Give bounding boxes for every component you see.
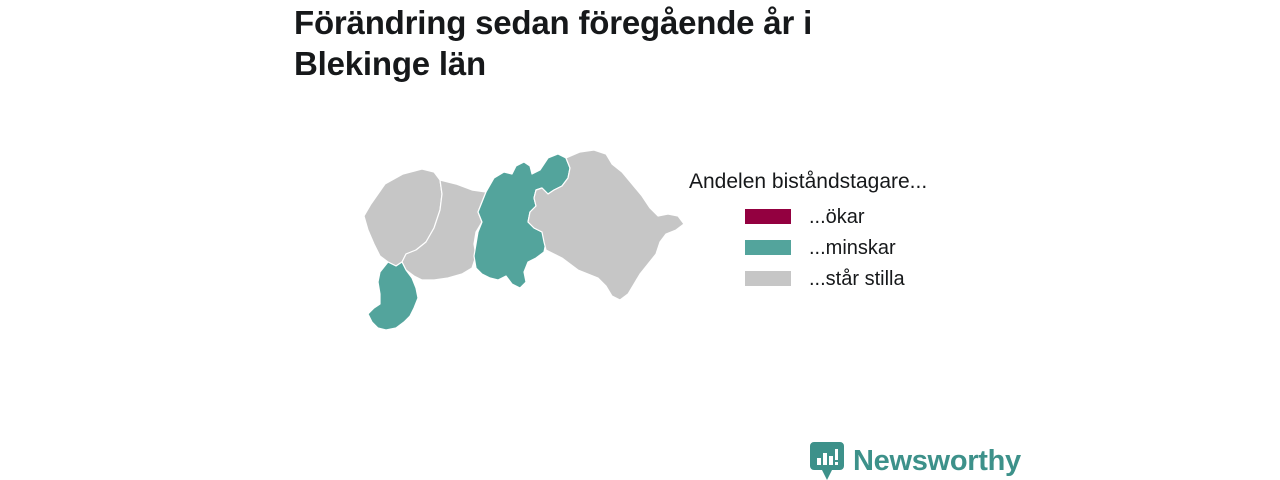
legend-label-decrease: ...minskar	[809, 236, 896, 260]
legend-swatch-increase	[745, 209, 791, 224]
legend-title: Andelen biståndstagare...	[689, 168, 1019, 196]
page-title: Förändring sedan föregående år i Bleking…	[294, 2, 914, 84]
newsworthy-barchart-pin-icon	[810, 442, 844, 480]
legend: Andelen biståndstagare... ...ökar ...min…	[689, 168, 1019, 294]
legend-swatch-unchanged	[745, 271, 791, 286]
legend-item-increase[interactable]: ...ökar	[689, 201, 1019, 232]
newsworthy-logo[interactable]: Newsworthy	[810, 442, 1021, 480]
legend-swatch-decrease	[745, 240, 791, 255]
map-svg	[330, 132, 710, 348]
legend-label-increase: ...ökar	[809, 205, 865, 229]
legend-item-decrease[interactable]: ...minskar	[689, 232, 1019, 263]
choropleth-map	[330, 132, 710, 348]
legend-label-unchanged: ...står stilla	[809, 267, 905, 291]
newsworthy-wordmark: Newsworthy	[853, 446, 1021, 476]
legend-item-unchanged[interactable]: ...står stilla	[689, 263, 1019, 294]
